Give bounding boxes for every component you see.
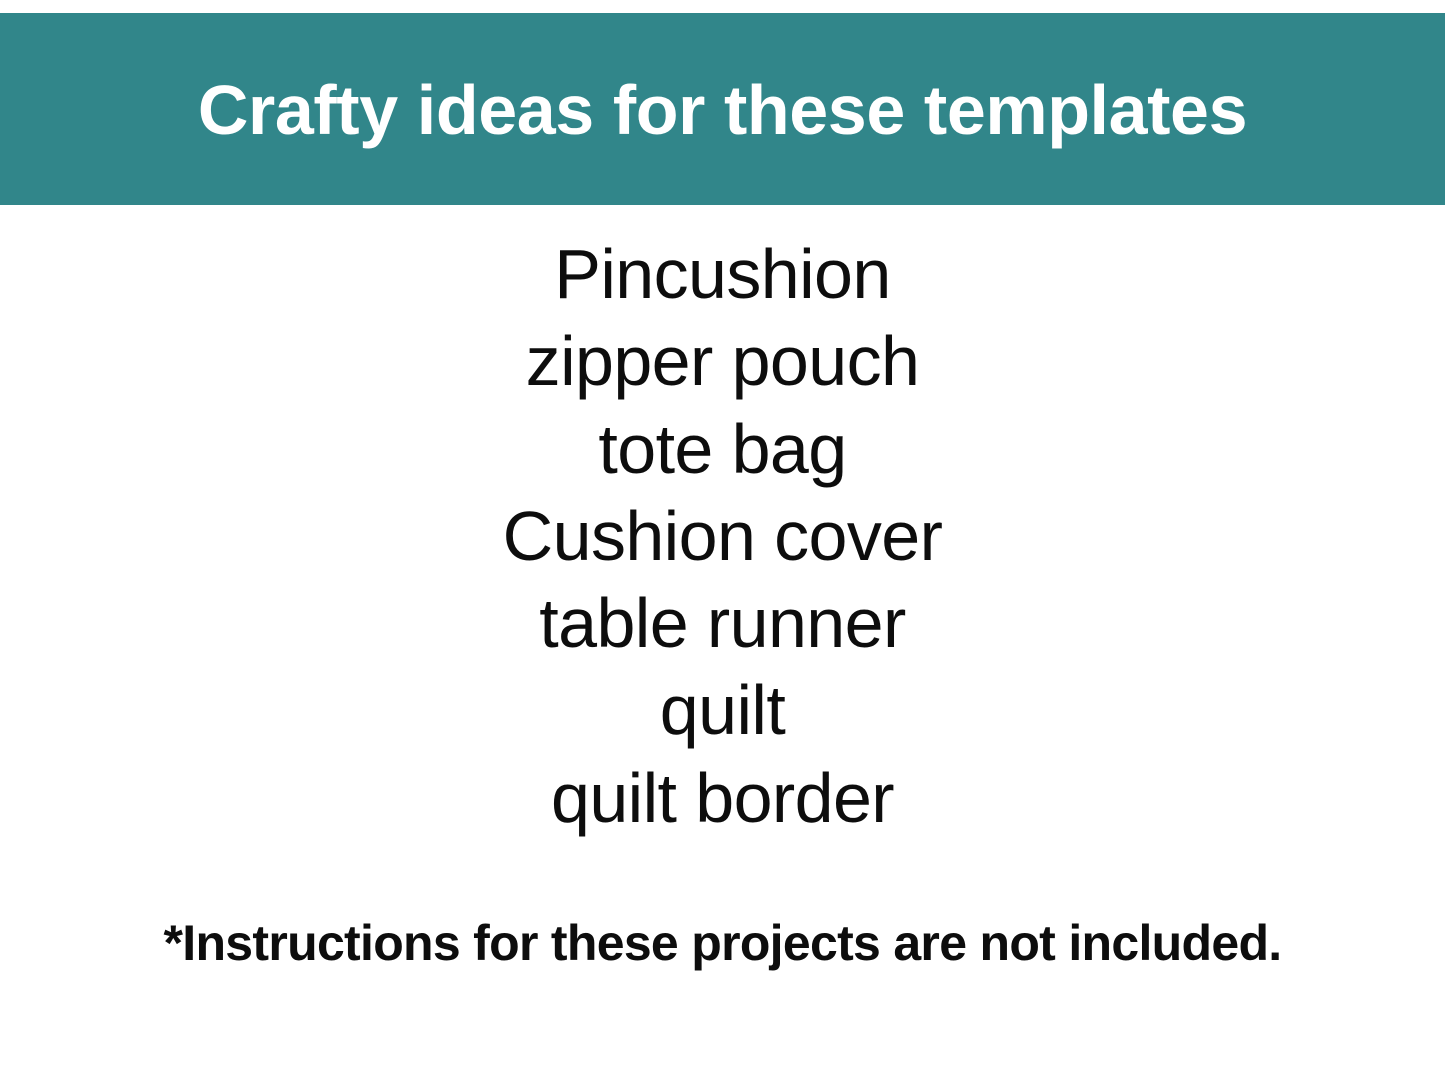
list-item: table runner — [0, 580, 1445, 667]
list-item: Pincushion — [0, 231, 1445, 318]
body-area: Pincushion zipper pouch tote bag Cushion… — [0, 205, 1445, 1084]
header-banner: Crafty ideas for these templates — [0, 13, 1445, 205]
list-item: tote bag — [0, 406, 1445, 493]
list-item: Cushion cover — [0, 493, 1445, 580]
slide-page: Crafty ideas for these templates Pincush… — [0, 0, 1445, 1084]
craft-ideas-list: Pincushion zipper pouch tote bag Cushion… — [0, 231, 1445, 842]
disclaimer-footnote: *Instructions for these projects are not… — [0, 918, 1445, 968]
list-item: quilt border — [0, 755, 1445, 842]
list-item: zipper pouch — [0, 318, 1445, 405]
list-item: quilt — [0, 667, 1445, 754]
page-title: Crafty ideas for these templates — [0, 75, 1445, 145]
